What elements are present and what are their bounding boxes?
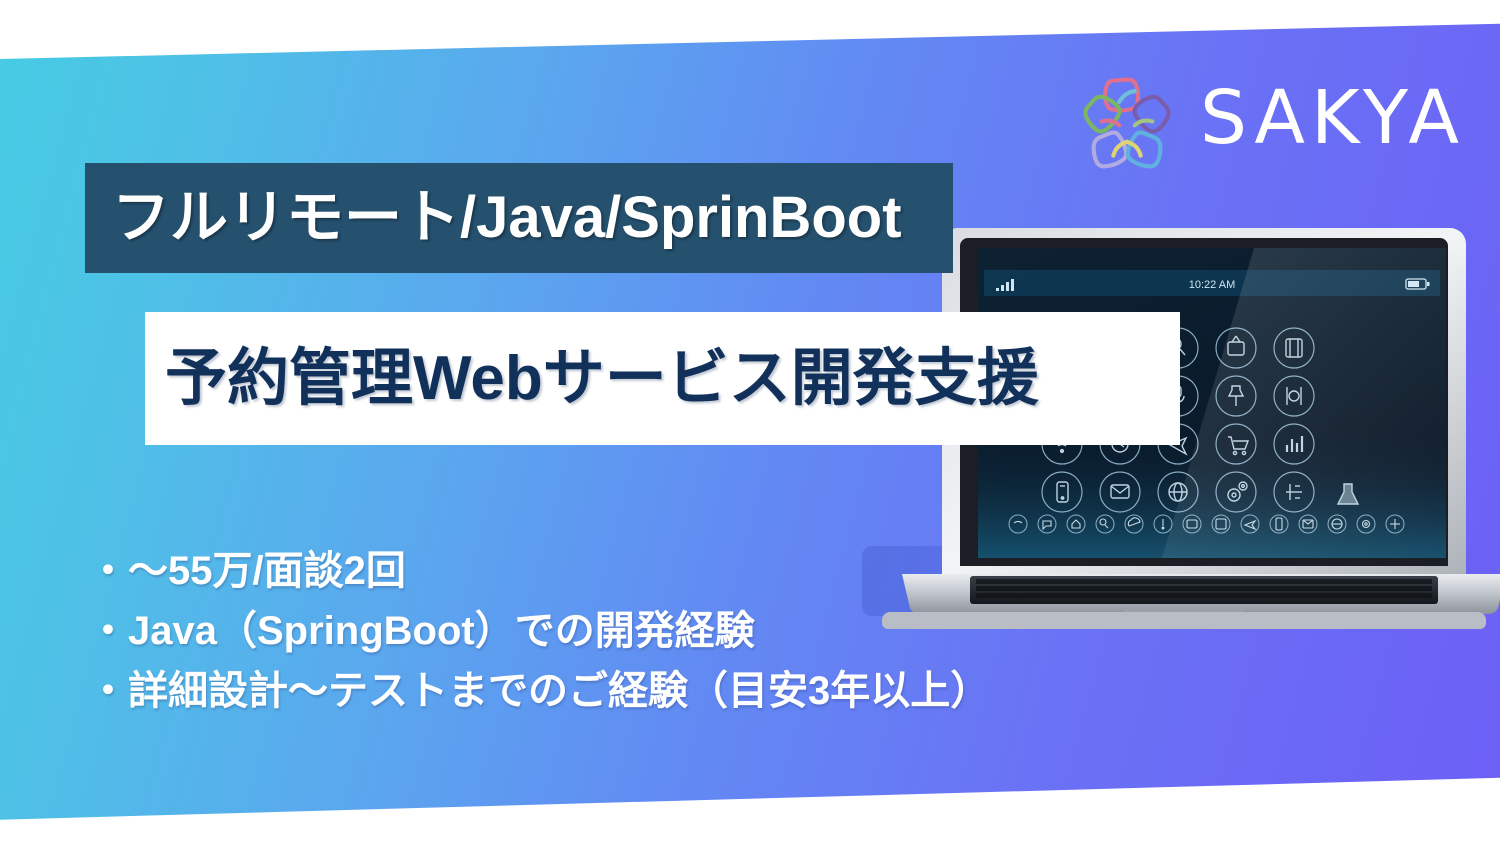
list-item: ・Java（SpringBoot）での開発経験 xyxy=(88,608,1068,655)
list-item: ・〜55万/面談2回 xyxy=(88,548,1068,595)
poster-canvas: 10:22 AM xyxy=(0,0,1500,843)
list-item: ・詳細設計〜テストまでのご経験（目安3年以上） xyxy=(88,668,1068,715)
brand-logo: SAKYA xyxy=(1068,58,1458,178)
brand-wordmark: SAKYA xyxy=(1200,81,1465,155)
banner-secondary: 予約管理Webサービス開発支援 xyxy=(145,312,1180,445)
requirements-list: ・〜55万/面談2回 ・Java（SpringBoot）での開発経験 ・詳細設計… xyxy=(88,548,1068,716)
banner-primary-text: フルリモート/Java/SprinBoot xyxy=(112,189,902,247)
screen-clock: 10:22 AM xyxy=(1189,279,1235,291)
banner-secondary-text: 予約管理Webサービス開発支援 xyxy=(165,348,1039,410)
banner-primary: フルリモート/Java/SprinBoot xyxy=(85,163,953,273)
sakya-pinwheel-logo xyxy=(1068,61,1186,176)
